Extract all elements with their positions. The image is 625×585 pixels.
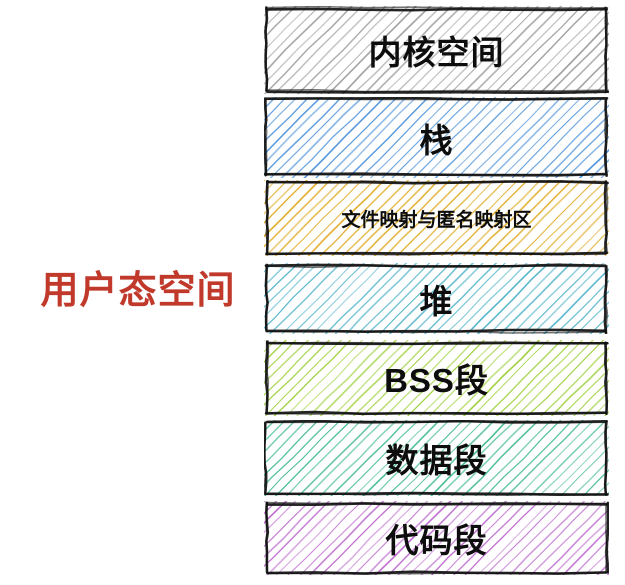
band-label-bss-segment: BSS段 xyxy=(264,340,609,416)
band-label-kernel-space: 内核空间 xyxy=(264,6,609,94)
band-label-stack: 栈 xyxy=(264,97,609,178)
band-label-file-and-anonymous-mapping: 文件映射与匿名映射区 xyxy=(264,180,609,256)
memory-band-data-segment: 数据段 xyxy=(264,420,609,496)
memory-band-bss-segment: BSS段 xyxy=(264,340,609,416)
memory-band-stack: 内核空间栈文件映射与匿名映射区堆BSS段数据段代码段 xyxy=(264,6,609,578)
memory-band-kernel-space: 内核空间 xyxy=(264,6,609,94)
memory-band-heap: 堆 xyxy=(264,263,609,334)
band-label-heap: 堆 xyxy=(264,263,609,334)
memory-band-stack: 栈 xyxy=(264,97,609,178)
band-label-data-segment: 数据段 xyxy=(264,420,609,496)
memory-band-code-segment: 代码段 xyxy=(264,501,609,575)
memory-layout-diagram: 用户态空间 内核空间栈文件映射与匿名映射区堆BSS段数据段代码段 xyxy=(0,0,625,585)
band-label-code-segment: 代码段 xyxy=(264,501,609,575)
userspace-label: 用户态空间 xyxy=(18,271,258,313)
memory-band-file-and-anonymous-mapping: 文件映射与匿名映射区 xyxy=(264,180,609,256)
